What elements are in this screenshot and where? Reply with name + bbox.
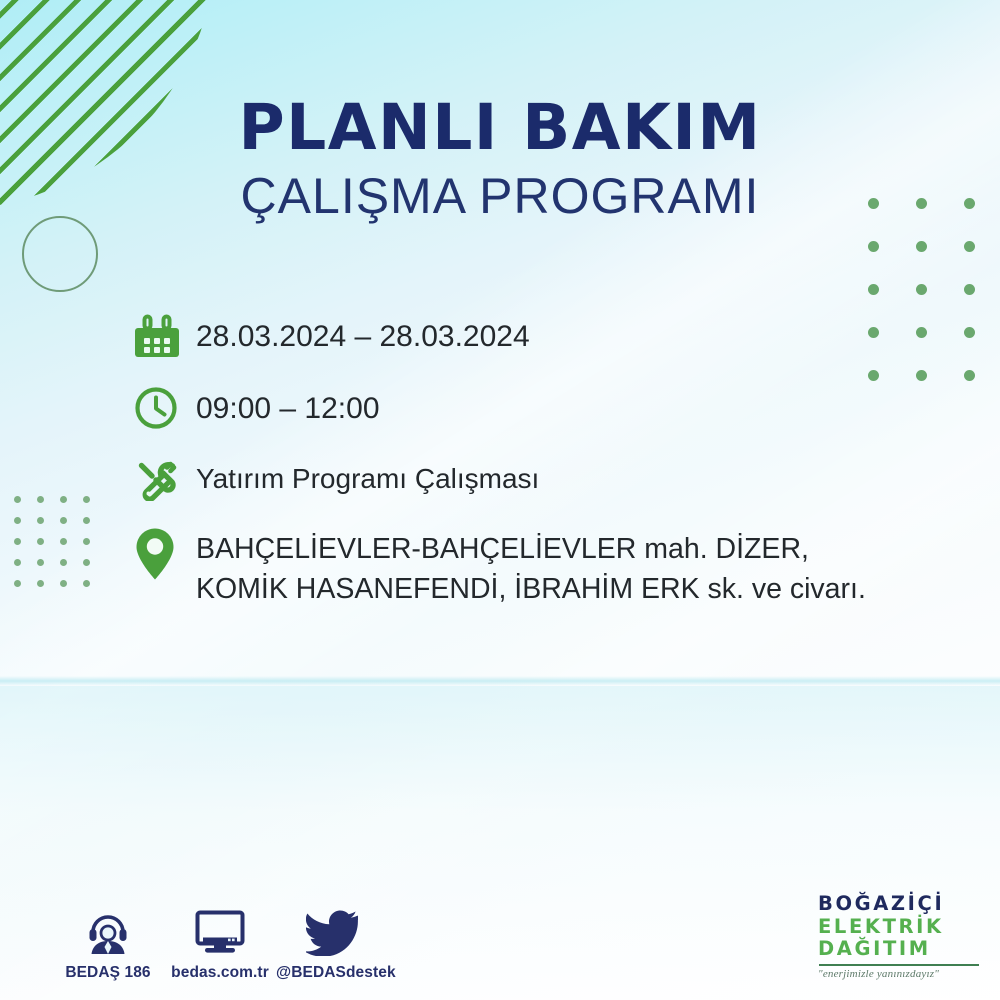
- decor-dot: [37, 580, 44, 587]
- tools-icon: [134, 455, 196, 501]
- contact-twitter-label: @BEDASdestek: [276, 964, 388, 982]
- logo-tagline: "enerjimizle yanınızdayız": [818, 968, 986, 980]
- poster-header: PLANLI BAKIM ÇALIŞMA PROGRAMI: [0, 96, 1000, 226]
- calendar-icon: [134, 312, 196, 360]
- decor-dot: [868, 284, 879, 295]
- dot-grid-left-decoration: [14, 496, 106, 601]
- contact-website[interactable]: bedas.com.tr: [164, 902, 276, 982]
- work-type-value: Yatırım Programı Çalışması: [196, 455, 539, 499]
- decor-dot: [14, 538, 21, 545]
- outage-details-list: 28.03.2024 – 28.03.2024 09:00 – 12:00: [134, 312, 894, 610]
- decor-dot: [964, 370, 975, 381]
- decor-dot: [83, 517, 90, 524]
- decor-dot: [964, 241, 975, 252]
- contact-phone-label: BEDAŞ 186: [52, 964, 164, 982]
- contact-twitter[interactable]: @BEDASdestek: [276, 902, 388, 982]
- decor-dot: [916, 327, 927, 338]
- decor-dot: [14, 517, 21, 524]
- decor-dot: [60, 538, 67, 545]
- decor-dot: [83, 559, 90, 566]
- detail-row-time: 09:00 – 12:00: [134, 384, 894, 431]
- decor-dot: [83, 496, 90, 503]
- contact-channels: BEDAŞ 186 bedas.com.tr @B: [52, 902, 388, 982]
- decor-dot: [14, 559, 21, 566]
- page-subtitle: ÇALIŞMA PROGRAMI: [0, 168, 1000, 226]
- decor-dot: [916, 241, 927, 252]
- contact-phone[interactable]: BEDAŞ 186: [52, 902, 164, 982]
- detail-row-work-type: Yatırım Programı Çalışması: [134, 455, 894, 501]
- time-range-value: 09:00 – 12:00: [196, 384, 380, 431]
- location-value: BAHÇELİEVLER-BAHÇELİEVLER mah. DİZER, KO…: [196, 525, 868, 610]
- background-divider-band: [0, 676, 1000, 686]
- decor-dot: [60, 580, 67, 587]
- decor-dot: [14, 496, 21, 503]
- decor-dot: [60, 496, 67, 503]
- decor-dot: [37, 517, 44, 524]
- decor-dot: [37, 496, 44, 503]
- logo-line-elektrik: ELEKTRİK: [818, 916, 986, 939]
- decor-dot: [37, 538, 44, 545]
- logo-line-dagitim: DAĞITIM: [818, 938, 986, 961]
- decor-dot: [83, 580, 90, 587]
- poster-canvas: PLANLI BAKIM ÇALIŞMA PROGRAMI: [0, 0, 1000, 1000]
- decor-dot: [60, 517, 67, 524]
- clock-icon: [134, 384, 196, 430]
- decor-dot: [868, 241, 879, 252]
- company-logo: BOĞAZİÇİ ELEKTRİK DAĞITIM "enerjimizle y…: [818, 893, 986, 980]
- logo-divider: [819, 964, 979, 966]
- decor-dot: [37, 559, 44, 566]
- decor-dot: [964, 284, 975, 295]
- detail-row-location: BAHÇELİEVLER-BAHÇELİEVLER mah. DİZER, KO…: [134, 525, 894, 610]
- decor-dot: [60, 559, 67, 566]
- decor-dot: [916, 370, 927, 381]
- decor-dot: [916, 284, 927, 295]
- detail-row-date: 28.03.2024 – 28.03.2024: [134, 312, 894, 360]
- location-pin-icon: [134, 525, 196, 581]
- date-range-value: 28.03.2024 – 28.03.2024: [196, 312, 530, 359]
- twitter-bird-icon: [276, 902, 388, 956]
- headset-support-icon: [52, 902, 164, 956]
- decor-dot: [83, 538, 90, 545]
- decor-dot: [964, 327, 975, 338]
- logo-line-bogazici: BOĞAZİÇİ: [818, 893, 986, 916]
- decor-dot: [14, 580, 21, 587]
- circle-outline-decoration: [22, 216, 98, 292]
- monitor-website-icon: [164, 902, 276, 956]
- contact-website-label: bedas.com.tr: [164, 964, 276, 982]
- page-title: PLANLI BAKIM: [0, 96, 1000, 159]
